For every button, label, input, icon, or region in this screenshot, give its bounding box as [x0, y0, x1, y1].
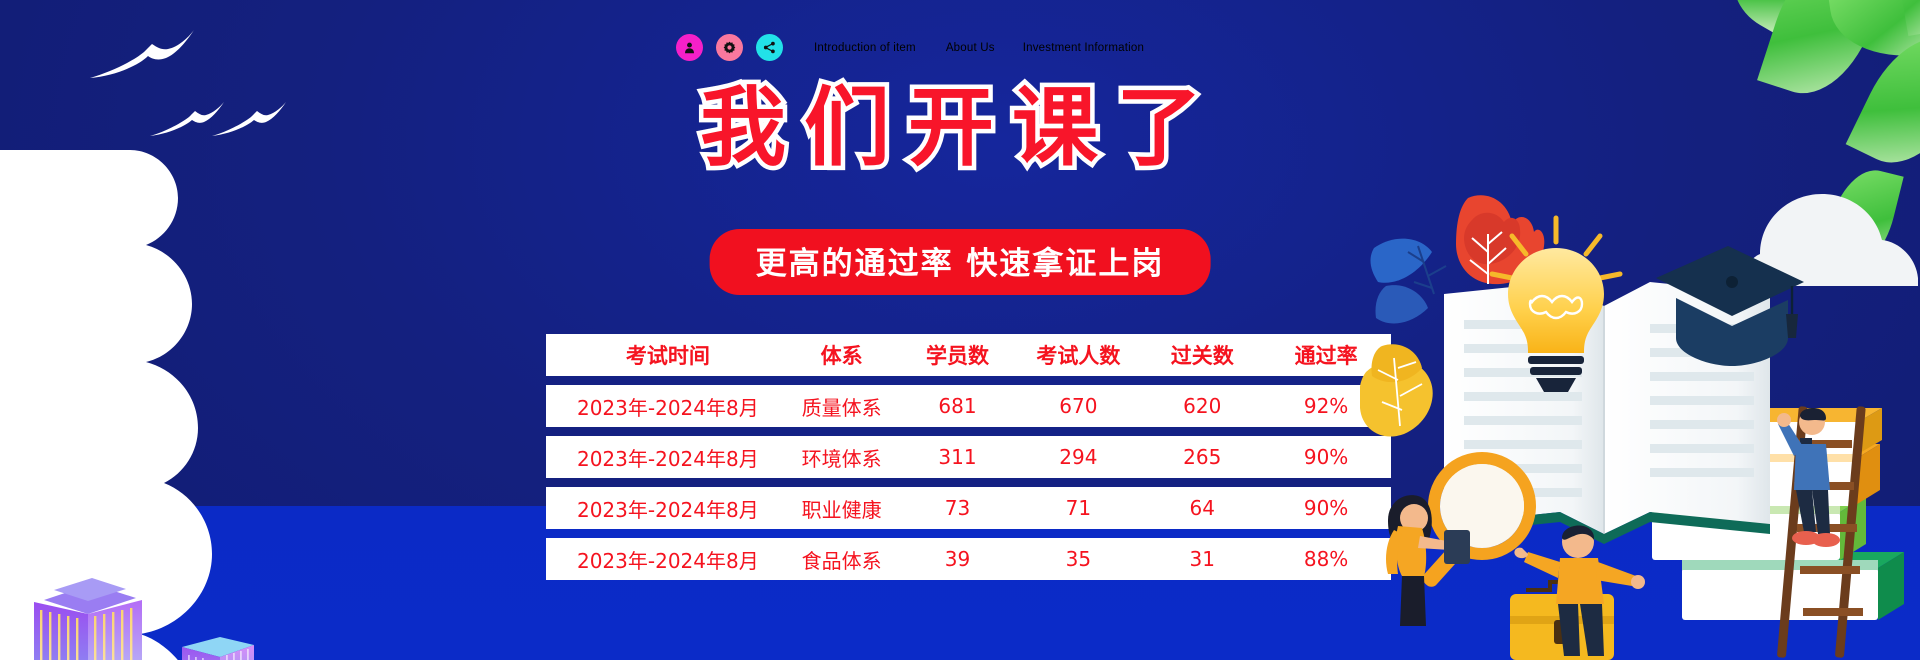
cell-students: 681: [902, 394, 1014, 418]
cell-system: 质量体系: [782, 392, 902, 421]
cell-students: 311: [902, 445, 1014, 469]
education-illustration: [1360, 190, 1920, 660]
cell-system: 环境体系: [782, 443, 902, 472]
table-row: 2023年-2024年8月 环境体系 311 294 265 90%: [546, 436, 1391, 478]
hero-title-fill: 我们开课了: [700, 78, 1220, 178]
cell-passed: 31: [1143, 547, 1261, 571]
cell-system: 食品体系: [782, 545, 902, 574]
banner-stage: Introduction of item About Us Investment…: [0, 0, 1920, 660]
user-icon[interactable]: [676, 34, 703, 61]
stats-table: 考试时间 体系 学员数 考试人数 过关数 通过率 2023年-2024年8月 质…: [546, 334, 1391, 589]
top-navigation: Introduction of item About Us Investment…: [676, 34, 1144, 61]
cell-passed: 265: [1143, 445, 1261, 469]
share-icon[interactable]: [756, 34, 783, 61]
cell-exam-time: 2023年-2024年8月: [546, 392, 782, 421]
gear-icon[interactable]: [716, 34, 743, 61]
cell-examinees: 71: [1013, 496, 1143, 520]
cell-exam-time: 2023年-2024年8月: [546, 494, 782, 523]
table-row: 2023年-2024年8月 职业健康 73 71 64 90%: [546, 487, 1391, 529]
table-header-examinees: 考试人数: [1013, 340, 1143, 370]
nav-link-investment-information[interactable]: Investment Information: [1023, 42, 1144, 54]
cell-students: 39: [902, 547, 1014, 571]
cell-exam-time: 2023年-2024年8月: [546, 545, 782, 574]
table-header-row: 考试时间 体系 学员数 考试人数 过关数 通过率: [546, 334, 1391, 376]
table-header-passed: 过关数: [1143, 340, 1261, 370]
hero-title: 我们开课了 我们开课了: [700, 78, 1220, 179]
cell-passed: 64: [1143, 496, 1261, 520]
cell-system: 职业健康: [782, 494, 902, 523]
table-header-students: 学员数: [902, 340, 1014, 370]
building-tower-tall: [30, 558, 148, 660]
cell-students: 73: [902, 496, 1014, 520]
cloud-decoration: [0, 150, 280, 660]
building-tower-short: [180, 633, 256, 660]
hero-subtitle-pill: 更高的通过率 快速拿证上岗: [710, 229, 1211, 295]
hero-title-wrap: 我们开课了 我们开课了: [0, 78, 1920, 179]
table-row: 2023年-2024年8月 食品体系 39 35 31 88%: [546, 538, 1391, 580]
table-header-system: 体系: [782, 340, 902, 370]
nav-link-about-us[interactable]: About Us: [946, 42, 995, 54]
nav-link-introduction[interactable]: Introduction of item: [814, 42, 916, 54]
cell-examinees: 670: [1013, 394, 1143, 418]
cell-examinees: 294: [1013, 445, 1143, 469]
bird-icon: [88, 28, 196, 82]
table-header-exam-time: 考试时间: [546, 340, 782, 370]
cell-exam-time: 2023年-2024年8月: [546, 443, 782, 472]
cell-examinees: 35: [1013, 547, 1143, 571]
table-row: 2023年-2024年8月 质量体系 681 670 620 92%: [546, 385, 1391, 427]
cell-passed: 620: [1143, 394, 1261, 418]
